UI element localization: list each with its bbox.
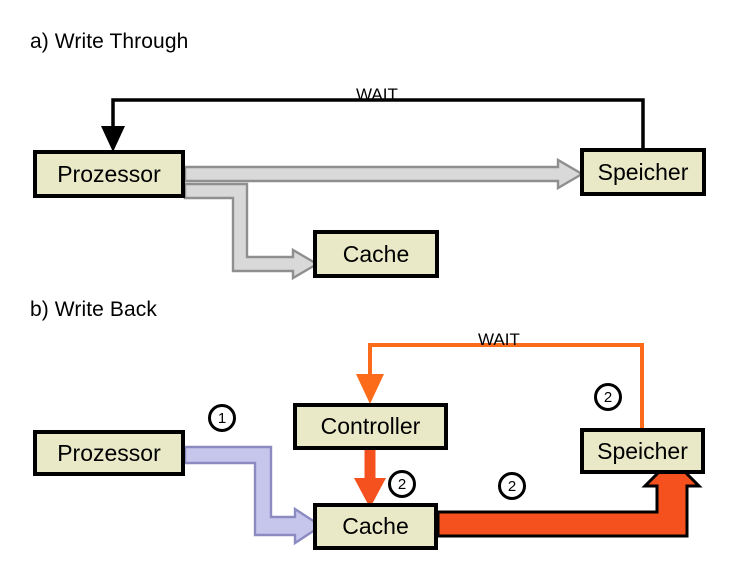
node-prozessor-a[interactable]: Prozessor bbox=[33, 150, 185, 198]
node-speicher-a[interactable]: Speicher bbox=[580, 148, 706, 196]
node-prozessor-b[interactable]: Prozessor bbox=[33, 430, 185, 476]
wait-label-a: WAIT bbox=[356, 85, 398, 105]
step-badge-2-cache-memory: 2 bbox=[498, 472, 526, 500]
node-label: Speicher bbox=[597, 438, 688, 465]
node-cache-b[interactable]: Cache bbox=[313, 503, 438, 550]
step-badge-number: 1 bbox=[218, 410, 226, 427]
node-label: Controller bbox=[321, 413, 421, 440]
node-cache-a[interactable]: Cache bbox=[313, 230, 439, 278]
node-label: Cache bbox=[343, 241, 409, 268]
node-controller-b[interactable]: Controller bbox=[293, 403, 448, 450]
step-badge-number: 2 bbox=[508, 478, 516, 495]
wait-label-b: WAIT bbox=[478, 330, 520, 350]
node-label: Prozessor bbox=[57, 161, 161, 188]
step-badge-2-controller-cache: 2 bbox=[388, 470, 416, 498]
node-speicher-b[interactable]: Speicher bbox=[580, 428, 705, 474]
cache-write-policy-diagram: a) Write Through Prozessor Cache Speiche… bbox=[0, 0, 751, 580]
processor-to-cache-arrow-b bbox=[185, 447, 321, 543]
node-label: Cache bbox=[342, 513, 408, 540]
node-label: Prozessor bbox=[57, 440, 161, 467]
step-badge-1-processor-controller: 1 bbox=[208, 404, 236, 432]
node-label: Speicher bbox=[598, 159, 689, 186]
step-badge-number: 2 bbox=[398, 476, 406, 493]
step-badge-number: 2 bbox=[604, 389, 612, 406]
step-badge-2-memory: 2 bbox=[594, 383, 622, 411]
controller-to-cache-arrow bbox=[354, 450, 386, 508]
